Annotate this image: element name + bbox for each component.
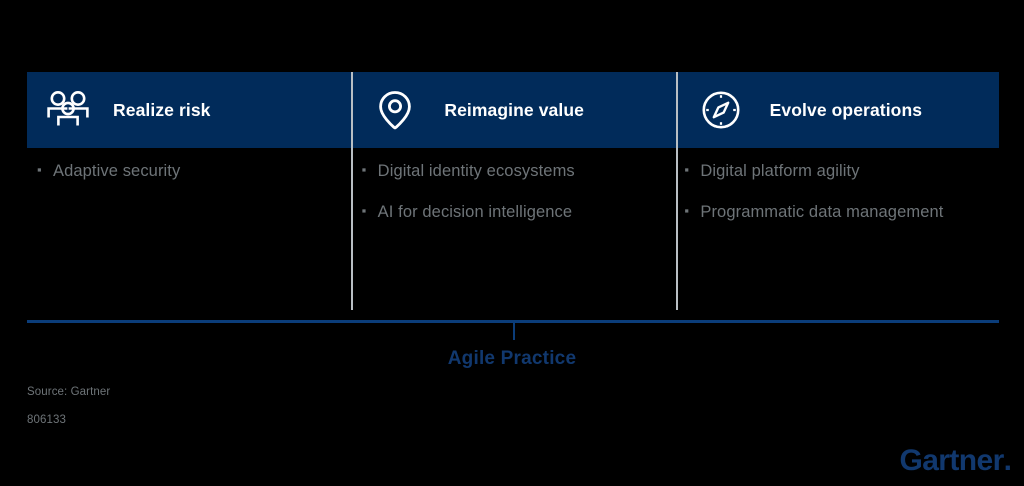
list-item: ▪ Adaptive security — [37, 160, 312, 182]
header-cell-evolve-operations: Evolve operations — [674, 72, 999, 148]
header-cell-reimagine-value: Reimagine value — [346, 72, 673, 148]
header-title-evolve-operations: Evolve operations — [770, 100, 922, 121]
axis-label-agile-practice: Agile Practice — [0, 348, 1024, 370]
bullet-marker: ▪ — [684, 201, 700, 220]
bullet-marker: ▪ — [37, 160, 53, 179]
list-item-label: Programmatic data management — [700, 201, 943, 223]
content-column-evolve-operations: ▪ Digital platform agility ▪ Programmati… — [652, 160, 999, 310]
people-group-icon — [45, 87, 91, 133]
header-title-realize-risk: Realize risk — [113, 100, 211, 121]
gartner-logo: Gartner. — [899, 444, 1012, 478]
content-column-realize-risk: ▪ Adaptive security — [27, 160, 328, 310]
list-item-label: Adaptive security — [53, 160, 180, 182]
content-column-reimagine-value: ▪ Digital identity ecosystems ▪ AI for d… — [328, 160, 653, 310]
list-item: ▪ Digital platform agility — [684, 160, 959, 182]
compass-icon — [698, 87, 744, 133]
bullet-marker: ▪ — [684, 160, 700, 179]
header-bar: Realize risk Reimagine value Evolve oper… — [27, 72, 999, 148]
gartner-logo-dot: . — [1004, 444, 1012, 477]
bullet-marker: ▪ — [362, 160, 378, 179]
bullet-marker: ▪ — [362, 201, 378, 220]
gartner-logo-wordmark: Gartner — [899, 444, 1003, 477]
list-item: ▪ Programmatic data management — [684, 201, 959, 223]
source-note: Source: Gartner — [27, 386, 110, 398]
list-item-label: Digital identity ecosystems — [378, 160, 575, 182]
axis-center-tick — [513, 322, 515, 340]
figure-id: 806133 — [27, 414, 66, 426]
header-title-reimagine-value: Reimagine value — [444, 100, 584, 121]
header-cell-realize-risk: Realize risk — [27, 72, 346, 148]
content-columns: ▪ Adaptive security ▪ Digital identity e… — [27, 160, 999, 310]
list-item-label: Digital platform agility — [700, 160, 859, 182]
list-item-label: AI for decision intelligence — [378, 201, 573, 223]
list-item: ▪ Digital identity ecosystems — [362, 160, 637, 182]
list-item: ▪ AI for decision intelligence — [362, 201, 637, 223]
location-pin-icon — [372, 87, 418, 133]
